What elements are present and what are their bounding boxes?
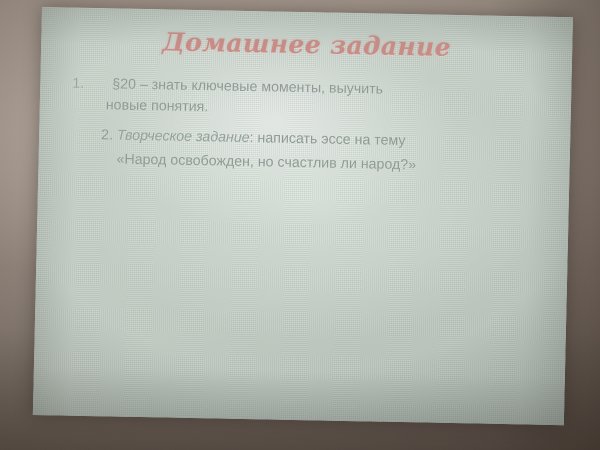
projection-screen-area: Домашнее задание 1. §20 – знать ключевые… xyxy=(33,6,564,414)
presentation-slide: Домашнее задание 1. §20 – знать ключевые… xyxy=(33,7,573,425)
list-item-marker: 2. xyxy=(101,127,113,143)
list-item-line1: §20 – знать ключевые моменты, выучить xyxy=(112,76,383,97)
projection-screen: Домашнее задание 1. §20 – знать ключевые… xyxy=(33,7,573,425)
projector-photo: Домашнее задание 1. §20 – знать ключевые… xyxy=(0,0,600,450)
list-item: 1. §20 – знать ключевые моменты, выучить… xyxy=(58,73,560,125)
list-item-line1-rest: : написать эссе на тему xyxy=(249,130,405,149)
slide-body: 1. §20 – знать ключевые моменты, выучить… xyxy=(56,73,559,181)
slide-title: Домашнее задание xyxy=(41,25,573,64)
list-item-line2: «Народ освобожден, но счастлив ли народ?… xyxy=(100,149,557,179)
list-item-marker: 1. xyxy=(72,74,84,95)
list-item-line2: новые понятия. xyxy=(106,95,559,125)
list-item-emphasis: Творческое задание xyxy=(117,127,250,146)
list-item: 2. Творческое задание: написать эссе на … xyxy=(56,124,558,179)
